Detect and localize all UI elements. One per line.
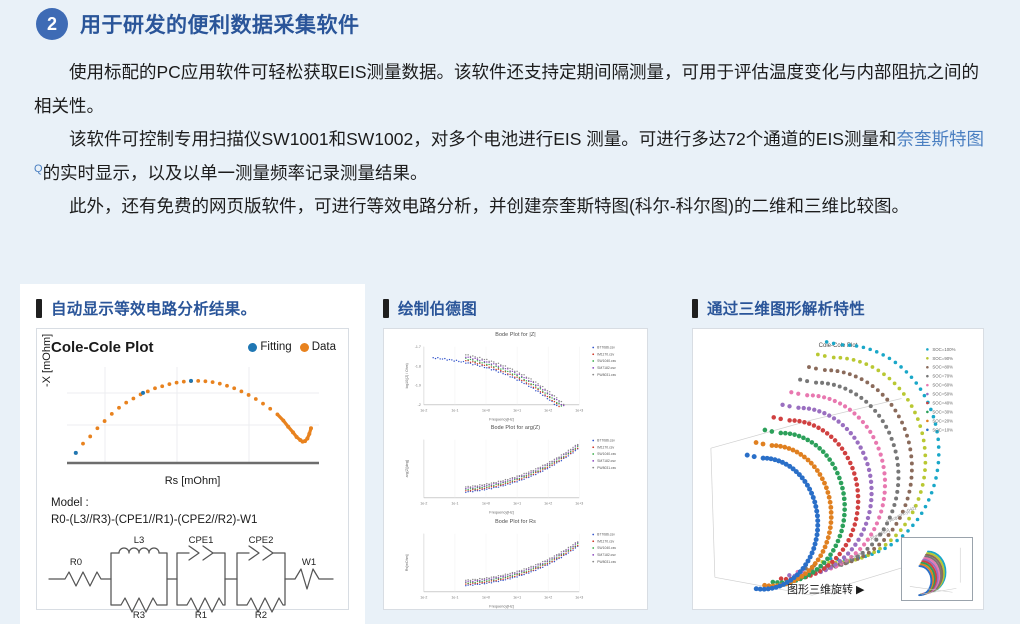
bode-subplot-arg: Bode Plot for arg(Z) 1e-21e-11e+01e+11e+… (384, 422, 647, 515)
svg-text:SOC=100%: SOC=100% (932, 347, 955, 352)
bode-subplot-z: Bode Plot for |Z| 1e-21e-11e+01e+11e+21e… (384, 329, 647, 422)
svg-text:B77086.csv: B77086.csv (597, 346, 615, 350)
paragraph-2: 该软件可控制专用扫描仪SW1001和SW1002，对多个电池进行EIS 测量。可… (34, 123, 986, 190)
bode-chart-z: 1e-21e-11e+01e+11e+21e+3-1.7-1.8-1.9-2Fr… (384, 337, 647, 422)
equivalent-circuit-diagram: R0 L3 R3 CPE1 R1 CPE2 R2 W1 (45, 533, 340, 619)
bode-card: Bode Plot for |Z| 1e-21e-11e+01e+11e+21e… (383, 328, 648, 610)
body-text: 使用标配的PC应用软件可轻松获取EIS测量数据。该软件还支持定期间隔测量，可用于… (34, 56, 986, 224)
svg-text:B77086.csv: B77086.csv (597, 439, 615, 443)
svg-text:SOC=80%: SOC=80% (932, 365, 953, 370)
svg-text:1e-2: 1e-2 (420, 409, 427, 413)
page-title: 用于研发的便利数据采集软件 (80, 9, 360, 39)
svg-text:1e+2: 1e+2 (544, 595, 552, 599)
svg-text:SM7182.csv: SM7182.csv (597, 366, 616, 370)
svg-text:Frequency[Hz]: Frequency[Hz] (489, 604, 514, 608)
legend-item-fitting: Fitting (248, 341, 291, 353)
legend-label-fitting: Fitting (260, 341, 291, 353)
svg-text:SW1040.csv: SW1040.csv (597, 359, 616, 363)
bode-subplot-stack: Bode Plot for |Z| 1e-21e-11e+01e+11e+21e… (384, 329, 647, 609)
model-label: Model : (51, 495, 257, 512)
bode-chart-arg: 1e-21e-11e+01e+11e+21e+3Frequency[Hz]arg… (384, 430, 647, 515)
paragraph-1: 使用标配的PC应用软件可轻松获取EIS测量数据。该软件还支持定期间隔测量，可用于… (34, 56, 986, 123)
panel-3-header: 通过三维图形解析特性 (676, 284, 1000, 319)
svg-text:arg(Z)[deg]: arg(Z)[deg] (405, 460, 409, 477)
circuit-label-cpe1: CPE1 (189, 535, 214, 546)
circuit-label-r1: R1 (195, 610, 207, 619)
svg-text:SW1040.csv: SW1040.csv (597, 453, 616, 457)
svg-text:Frequency[Hz]: Frequency[Hz] (489, 417, 514, 421)
svg-text:IM1170.csv: IM1170.csv (597, 352, 614, 356)
paragraph-2-lead: 该软件可控制专用扫描仪SW1001和SW1002，对多个电池进行EIS 测量。可… (69, 129, 896, 149)
panel-bode-plot: 绘制伯德图 Bode Plot for |Z| 1e-21e-11e+01e+1… (367, 284, 664, 624)
plot3d-card: Cole-Cole Plot Frequency[Hz]-X[mOhm]Rs[m… (692, 328, 984, 610)
svg-text:log10(|Z| / Ohm): log10(|Z| / Ohm) (405, 363, 409, 388)
rotate-3d-label[interactable]: 图形三维旋转 ▶ (787, 581, 865, 597)
svg-text:1e+3: 1e+3 (575, 595, 583, 599)
section-number-badge: 2 (36, 8, 68, 40)
svg-text:1e+3: 1e+3 (575, 502, 583, 506)
svg-text:SOC=30%: SOC=30% (932, 409, 953, 414)
svg-text:PW8031.csv: PW8031.csv (597, 466, 616, 470)
legend-dot-fitting-icon (248, 343, 257, 352)
page-root: 2 用于研发的便利数据采集软件 使用标配的PC应用软件可轻松获取EIS测量数据。… (0, 0, 1020, 624)
svg-text:1e+1: 1e+1 (513, 595, 521, 599)
svg-text:1e-2: 1e-2 (420, 595, 427, 599)
nyquist-link[interactable]: 奈奎斯特图 (896, 129, 984, 149)
svg-text:SOC=50%: SOC=50% (932, 392, 953, 397)
svg-text:1e-1: 1e-1 (451, 595, 458, 599)
cole-cole-xlabel: Rs [mOhm] (37, 475, 348, 487)
svg-text:PW8031.csv: PW8031.csv (597, 373, 616, 377)
panel-1-header: 自动显示等效电路分析结果。 (20, 284, 365, 319)
paragraph-2-tail: 的实时显示，以及以单一测量频率记录测量结果。 (43, 163, 428, 183)
svg-text:SOC=70%: SOC=70% (932, 374, 953, 379)
svg-text:1e+0: 1e+0 (482, 502, 490, 506)
svg-text:SOC=90%: SOC=90% (932, 356, 953, 361)
circuit-label-r2: R2 (255, 610, 267, 619)
panel-2-header: 绘制伯德图 (367, 284, 664, 319)
section-heading: 2 用于研发的便利数据采集软件 (36, 8, 360, 40)
bode-subplot-rs: Bode Plot for Rs 1e-21e-11e+01e+11e+21e+… (384, 516, 647, 609)
circuit-label-r3: R3 (133, 610, 145, 619)
legend-label-data: Data (312, 341, 336, 353)
panel-3d-plot: 通过三维图形解析特性 Cole-Cole Plot Frequency[Hz]-… (676, 284, 1000, 624)
model-expression: R0-(L3//R3)-(CPE1//R1)-(CPE2//R2)-W1 (51, 512, 257, 529)
svg-text:SOC=10%: SOC=10% (932, 427, 953, 432)
thumbnail-chart (902, 538, 972, 600)
svg-text:1e+1: 1e+1 (513, 409, 521, 413)
svg-text:SM7182.csv: SM7182.csv (597, 459, 616, 463)
superscript-q: Q (34, 163, 43, 175)
accent-bar-icon (36, 299, 42, 318)
circuit-label-r0: R0 (70, 557, 82, 568)
svg-text:1e+1: 1e+1 (513, 502, 521, 506)
accent-bar-icon (692, 299, 698, 318)
svg-text:SOC=60%: SOC=60% (932, 383, 953, 388)
svg-text:Rs[mOhm]: Rs[mOhm] (405, 554, 409, 571)
svg-text:1e+0: 1e+0 (482, 409, 490, 413)
accent-bar-icon (383, 299, 389, 318)
svg-text:B77086.csv: B77086.csv (597, 532, 615, 536)
svg-text:IM1170.csv: IM1170.csv (597, 446, 614, 450)
panel-equivalent-circuit: 自动显示等效电路分析结果。 Cole-Cole Plot Fitting Dat… (20, 284, 365, 624)
svg-text:-2: -2 (418, 403, 421, 407)
svg-text:1e-1: 1e-1 (451, 409, 458, 413)
legend-dot-data-icon (300, 343, 309, 352)
feature-panels: 自动显示等效电路分析结果。 Cole-Cole Plot Fitting Dat… (0, 284, 1020, 624)
svg-text:1e-2: 1e-2 (420, 502, 427, 506)
legend-item-data: Data (300, 341, 336, 353)
circuit-label-cpe2: CPE2 (249, 535, 274, 546)
svg-text:1e+3: 1e+3 (575, 409, 583, 413)
circuit-label-l3: L3 (134, 535, 145, 546)
svg-text:1e+2: 1e+2 (544, 409, 552, 413)
svg-text:-1.7: -1.7 (415, 345, 421, 349)
svg-text:IM1170.csv: IM1170.csv (597, 539, 614, 543)
svg-text:-1.8: -1.8 (415, 364, 421, 368)
panel-3-title: 通过三维图形解析特性 (707, 297, 865, 319)
cole-cole-legend: Fitting Data (248, 341, 336, 353)
cole-cole-title: Cole-Cole Plot (51, 339, 154, 356)
svg-text:-1.9: -1.9 (415, 384, 421, 388)
circuit-model-text: Model : R0-(L3//R3)-(CPE1//R1)-(CPE2//R2… (51, 495, 257, 528)
svg-text:1e+0: 1e+0 (482, 595, 490, 599)
panel-1-title: 自动显示等效电路分析结果。 (51, 297, 256, 319)
svg-text:Frequency[Hz]: Frequency[Hz] (489, 511, 514, 515)
svg-text:PW8031.csv: PW8031.csv (597, 559, 616, 563)
bode-chart-rs: 1e-21e-11e+01e+11e+21e+3Frequency[Hz]Rs[… (384, 524, 647, 609)
cole-cole-chart (47, 363, 327, 469)
panel-2-title: 绘制伯德图 (398, 297, 477, 319)
svg-text:1e+2: 1e+2 (544, 502, 552, 506)
svg-text:SOC=40%: SOC=40% (932, 400, 953, 405)
plot3d-thumbnail[interactable] (901, 537, 973, 601)
svg-text:1e-1: 1e-1 (451, 502, 458, 506)
svg-text:SOC=20%: SOC=20% (932, 418, 953, 423)
cole-cole-card: Cole-Cole Plot Fitting Data -X [mOhm] Rs… (36, 328, 349, 610)
svg-text:SM7182.csv: SM7182.csv (597, 553, 616, 557)
svg-text:Frequency[Hz]: Frequency[Hz] (886, 505, 918, 526)
circuit-label-w1: W1 (302, 557, 316, 568)
paragraph-3: 此外，还有免费的网页版软件，可进行等效电路分析，并创建奈奎斯特图(科尔-科尔图)… (34, 190, 986, 224)
svg-text:SW1040.csv: SW1040.csv (597, 546, 616, 550)
